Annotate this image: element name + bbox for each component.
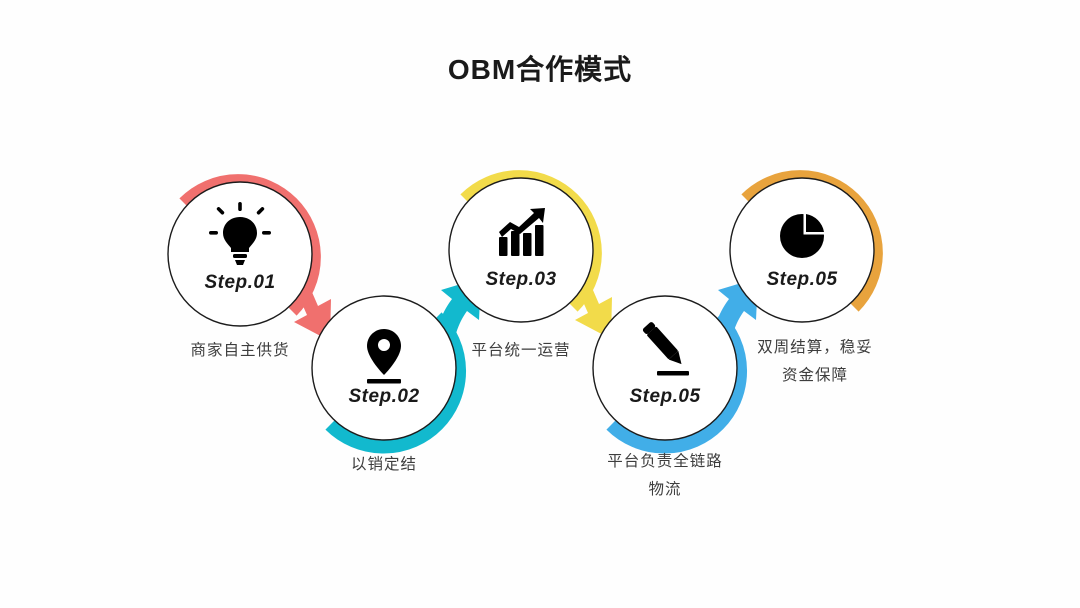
step-4-caption-line-1: 平台负责全链路 bbox=[607, 452, 723, 470]
step-5-caption-line-1: 双周结算，稳妥 bbox=[757, 337, 873, 356]
step-4-caption-line-2: 物流 bbox=[648, 480, 681, 498]
slide-canvas: OBM合作模式 bbox=[0, 0, 1080, 608]
step-1-caption-line-1: 商家自主供货 bbox=[190, 341, 289, 359]
step-node-4[interactable]: Step.05 平台负责全链路 物流 bbox=[593, 296, 741, 498]
step-2-label: Step.02 bbox=[348, 386, 419, 407]
step-node-2[interactable]: Step.02 以销定结 bbox=[312, 296, 460, 473]
step-3-label: Step.03 bbox=[485, 269, 556, 290]
step-4-circle bbox=[593, 296, 737, 440]
step-5-caption-line-2: 资金保障 bbox=[782, 366, 848, 384]
step-3-circle bbox=[449, 178, 593, 322]
step-1-label: Step.01 bbox=[204, 272, 275, 293]
step-5-label: Step.05 bbox=[766, 269, 837, 290]
step-node-3[interactable]: Step.03 平台统一运营 bbox=[449, 177, 595, 359]
step-2-caption-line-1: 以销定结 bbox=[351, 455, 417, 473]
step-4-label: Step.05 bbox=[629, 386, 700, 407]
step-node-5[interactable]: Step.05 双周结算，稳妥 资金保障 bbox=[730, 177, 876, 384]
process-diagram: Step.01 商家自主供货 Step.02 以销定结 bbox=[0, 0, 1080, 608]
step-node-1[interactable]: Step.01 商家自主供货 bbox=[168, 181, 314, 359]
step-3-caption-line-1: 平台统一运营 bbox=[471, 341, 570, 359]
